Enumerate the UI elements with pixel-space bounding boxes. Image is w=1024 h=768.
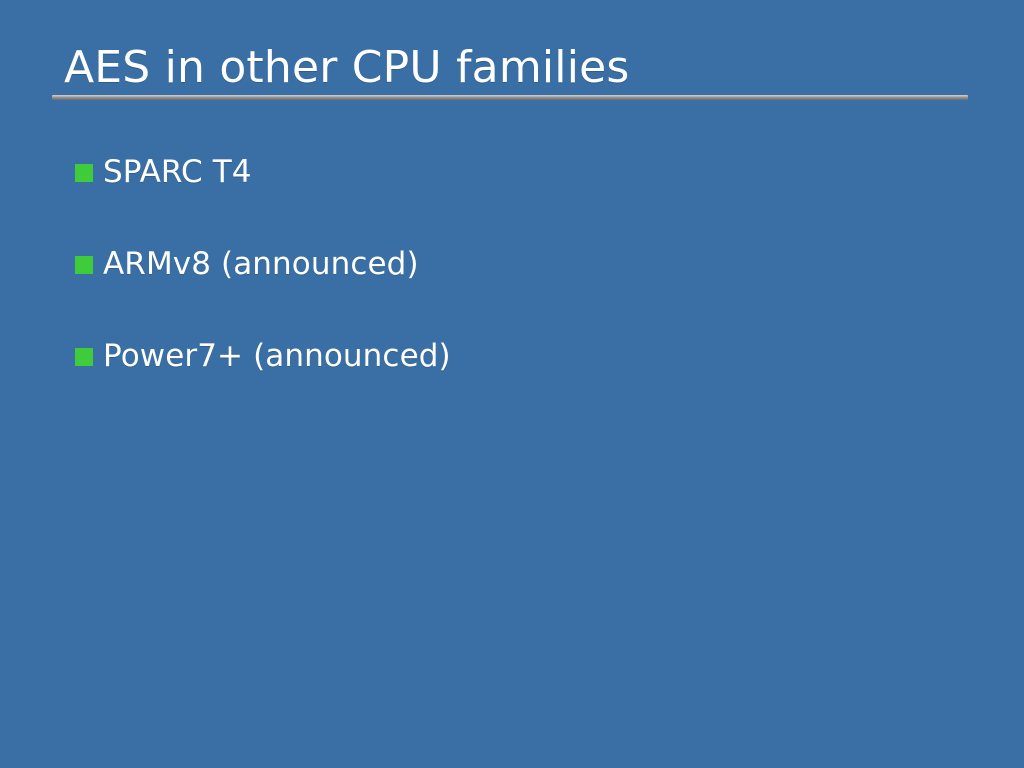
list-item: Power7+ (announced)	[75, 334, 955, 426]
list-item-label: SPARC T4	[103, 150, 252, 194]
title-underline-divider	[52, 95, 968, 100]
list-item: ARMv8 (announced)	[75, 242, 955, 334]
green-square-bullet-icon	[75, 256, 93, 274]
list-item: SPARC T4	[75, 150, 955, 242]
presentation-slide: AES in other CPU families SPARC T4 ARMv8…	[0, 0, 1024, 768]
green-square-bullet-icon	[75, 164, 93, 182]
slide-title-block: AES in other CPU families	[52, 40, 972, 96]
list-item-label: ARMv8 (announced)	[103, 242, 419, 286]
green-square-bullet-icon	[75, 348, 93, 366]
bullet-list: SPARC T4 ARMv8 (announced) Power7+ (anno…	[75, 150, 955, 426]
list-item-label: Power7+ (announced)	[103, 334, 451, 378]
page-title: AES in other CPU families	[52, 40, 972, 96]
